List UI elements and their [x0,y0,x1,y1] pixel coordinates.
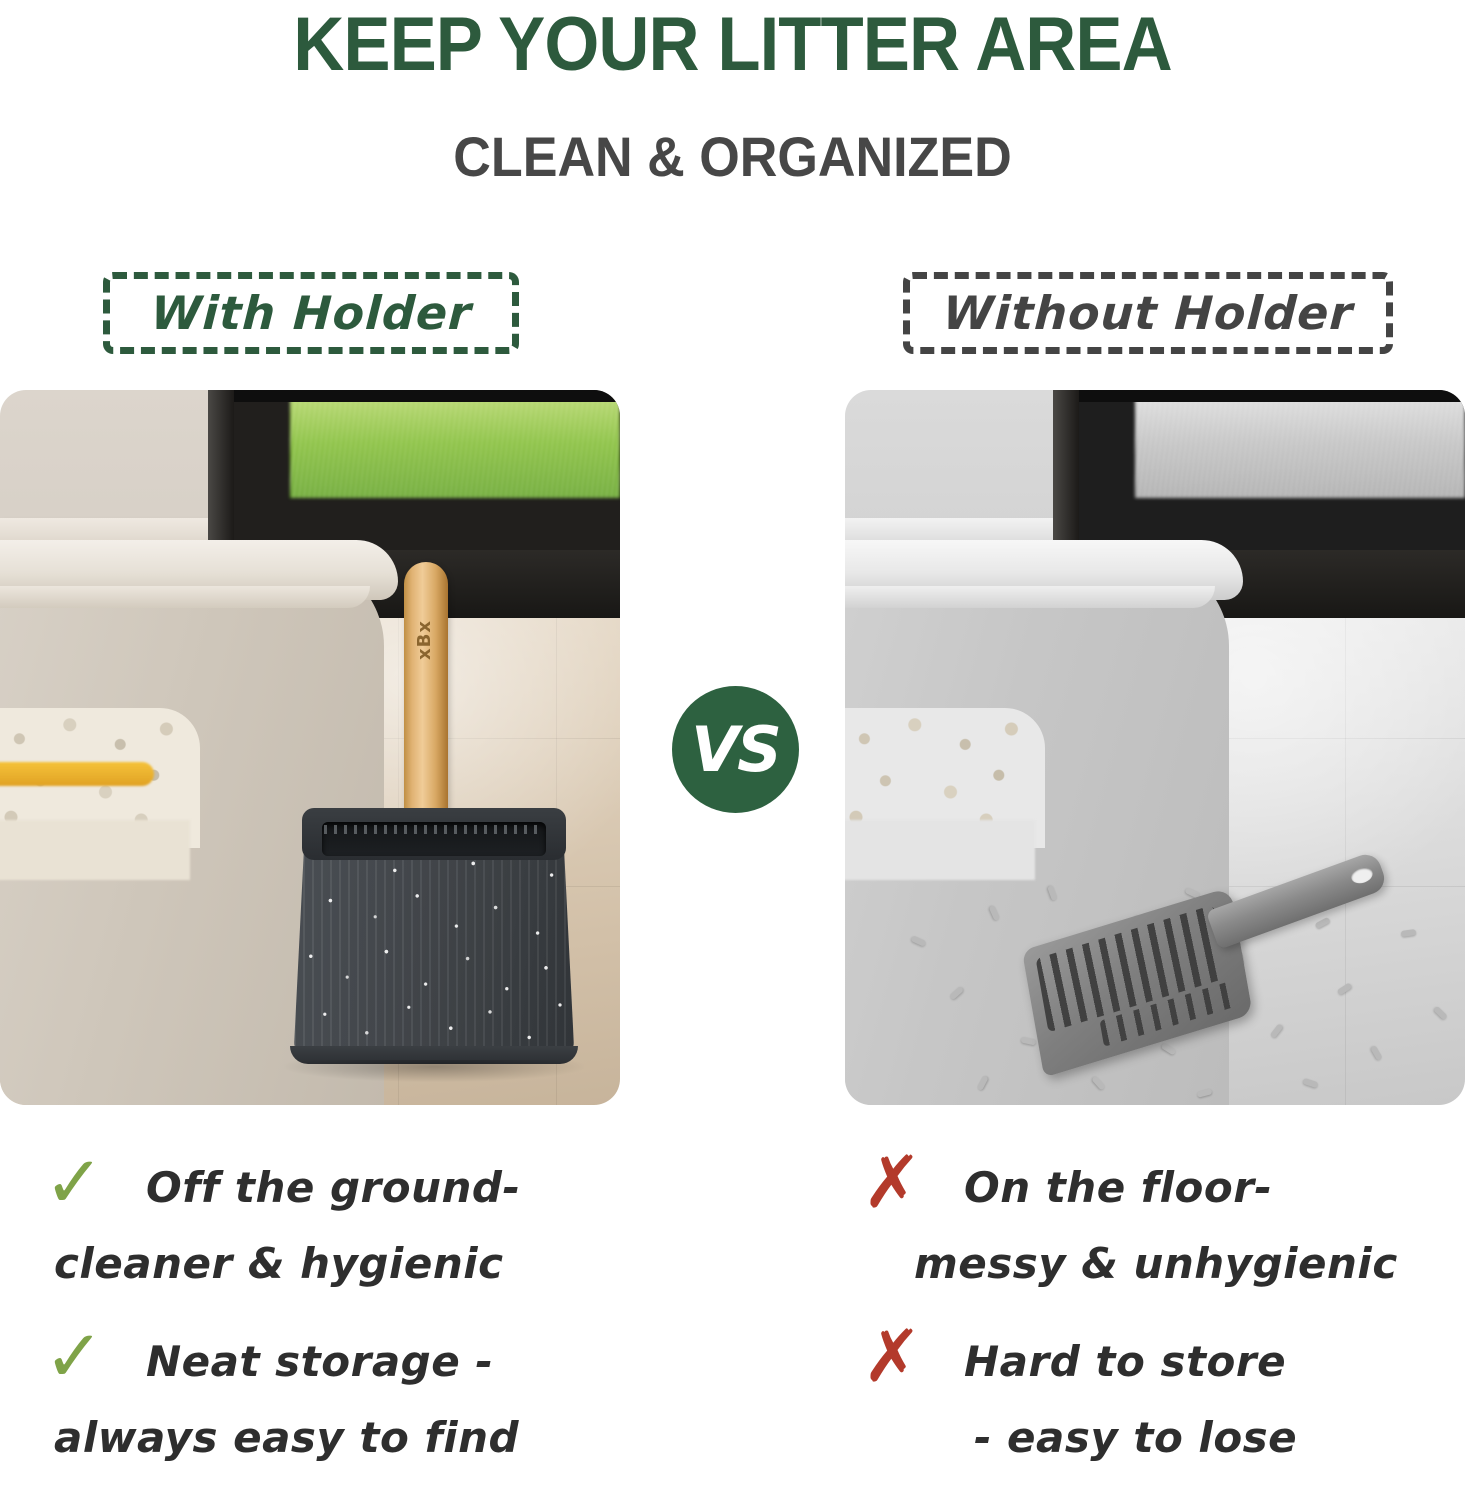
list-item-line2: - easy to lose [974,1400,1465,1476]
scene-without-holder [845,390,1465,1105]
litter-gravel-lower [0,820,190,880]
litter-box-rim-inner [0,586,370,608]
benefits-list-with-holder: ✓ Off the ground- cleaner & hygienic ✓ N… [38,1150,678,1498]
list-item-line1: On the floor- [964,1150,1465,1226]
vs-label: VS [691,713,780,786]
list-item-line1: Off the ground- [146,1150,678,1226]
check-icon: ✓ [44,1146,104,1218]
list-item-line2: always easy to find [54,1400,678,1476]
vs-badge: VS [672,686,799,813]
page-headline: KEEP YOUR LITTER AREA [51,4,1413,86]
list-item: ✓ Neat storage - always easy to find [38,1324,678,1476]
badge-without-holder-label: Without Holder [941,286,1354,340]
cross-icon: ✗ [862,1146,922,1218]
scoop-handle-brand: xBx [414,602,440,660]
list-item: ✓ Off the ground- cleaner & hygienic [38,1150,678,1302]
grass-outside [290,398,620,498]
badge-with-holder-label: With Holder [149,286,473,340]
holder-shadow [284,1060,584,1082]
photo-without-holder [845,390,1465,1105]
scene-with-holder: xBx [0,390,620,1105]
list-item-line2: cleaner & hygienic [54,1226,678,1302]
photo-with-holder: xBx [0,390,620,1105]
holder-slot [322,822,546,856]
scoop-holder [284,802,584,1072]
list-item-line1: Neat storage - [146,1324,678,1400]
check-icon: ✓ [44,1320,104,1392]
list-item: ✗ Hard to store - easy to lose [856,1324,1465,1476]
badge-with-holder: With Holder [103,272,519,354]
window-glass-top [232,390,620,402]
page-subheadline: CLEAN & ORGANIZED [51,126,1413,188]
list-item-line1: Hard to store [964,1324,1465,1400]
cross-icon: ✗ [862,1320,922,1392]
litter-gravel-accent [0,762,154,786]
list-item-line2: messy & unhygienic [914,1226,1465,1302]
drawbacks-list-without-holder: ✗ On the floor- messy & unhygienic ✗ Har… [856,1150,1465,1498]
list-item: ✗ On the floor- messy & unhygienic [856,1150,1465,1302]
badge-without-holder: Without Holder [903,272,1393,354]
